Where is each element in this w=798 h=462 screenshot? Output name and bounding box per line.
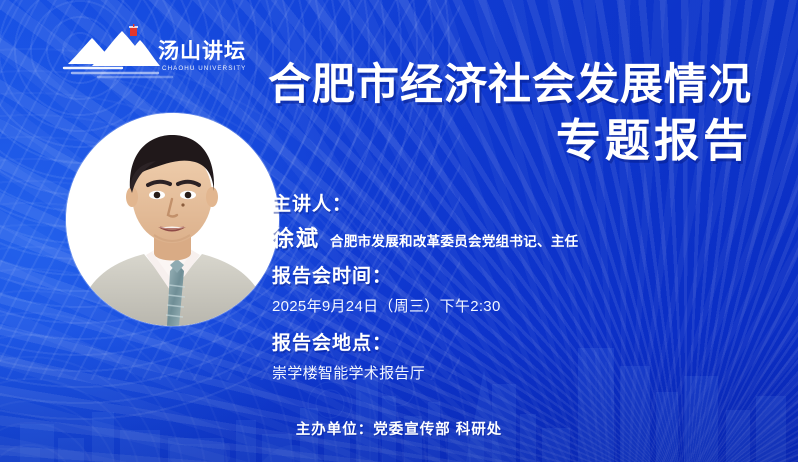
headline-line-2: 专题报告 [268,113,752,168]
time-value: 2025年9月24日（周三）下午2:30 [272,294,702,320]
place-label: 报告会地点： [272,329,702,359]
speaker-portrait-avatar [66,113,279,326]
poster-canvas: 汤山讲坛 CHAOHU UNIVERSITY [0,0,798,462]
logo-name-text: 汤山讲坛 [158,39,246,63]
red-pagoda-icon [129,24,138,36]
logo-subtitle-text: CHAOHU UNIVERSITY [162,65,246,72]
mountain-silhouette [68,31,160,66]
event-details: 主讲人： 徐斌 合肥市发展和改革委员会党组书记、主任 报告会时间： 2025年9… [272,190,702,387]
speaker-name: 徐斌 [272,221,320,253]
spacer [272,320,702,329]
headline-line-1: 合肥市经济社会发展情况 [268,58,752,113]
speaker-title: 合肥市发展和改革委员会党组书记、主任 [330,230,578,250]
poster-headline: 合肥市经济社会发展情况 专题报告 [268,58,752,168]
chaohu-university-logo: 汤山讲坛 CHAOHU UNIVERSITY [62,24,247,80]
place-value: 崇学楼智能学术报告厅 [272,361,702,387]
time-label: 报告会时间： [272,262,702,292]
speaker-label: 主讲人： [272,190,702,220]
speaker-row: 徐斌 合肥市发展和改革委员会党组书记、主任 [272,221,702,253]
organizer-footer: 主办单位：党委宣传部 科研处 [0,418,798,439]
spacer [272,253,702,262]
